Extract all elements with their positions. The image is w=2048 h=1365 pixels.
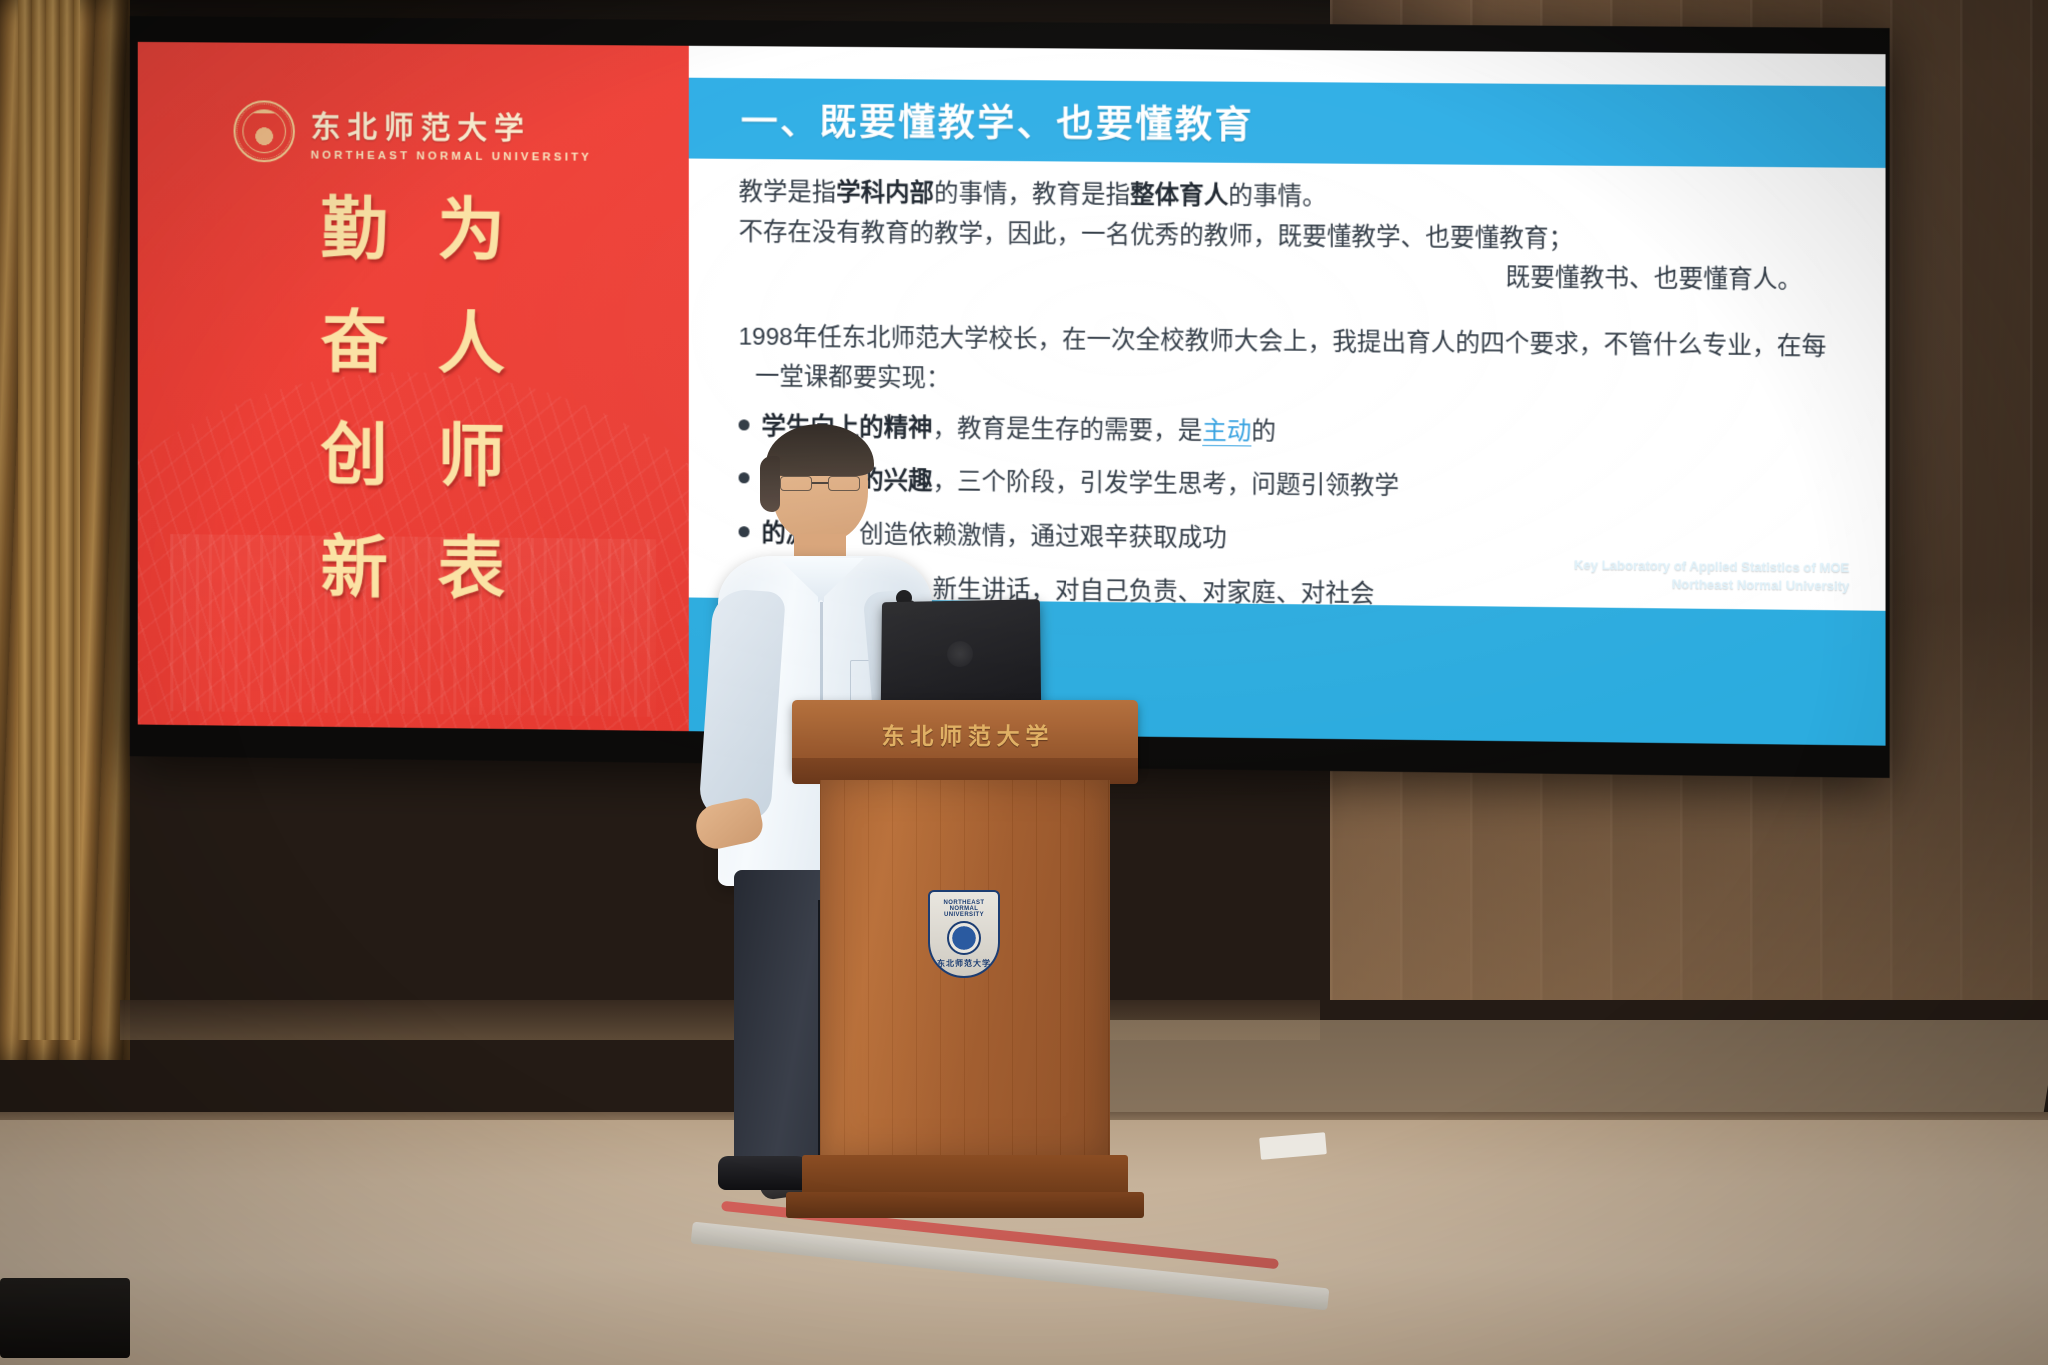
stage-curtain-folds: [18, 0, 80, 1040]
hair: [766, 424, 874, 476]
slogan-char: 表: [437, 535, 504, 603]
slide-title-bar: 一、既要懂教学、也要懂教育: [689, 77, 1886, 167]
shoe-left: [718, 1156, 814, 1190]
slogan-char: 人: [437, 309, 504, 377]
slogan-char: 奋: [321, 308, 388, 376]
glasses-lens-left: [780, 476, 812, 491]
wooden-podium: 东 北 师 范 大 学 NORTHEAST NORMAL UNIVERSITY …: [820, 700, 1110, 1245]
podium-university-emblem: NORTHEAST NORMAL UNIVERSITY 东北师范大学: [912, 880, 1016, 998]
slogan-char: 师: [437, 422, 504, 490]
bullet-rest: ，三个阶段，引发学生思考，问题引领教学: [932, 468, 1399, 500]
university-logo-row: 东北师范大学 NORTHEAST NORMAL UNIVERSITY: [138, 100, 689, 166]
podium-base: [802, 1155, 1128, 1195]
bullet-rest: ，教育是生存的需要，是: [932, 415, 1202, 445]
slogan-char: 为: [437, 197, 504, 265]
slogan-char: 勤: [321, 196, 388, 264]
slogan-block: 勤 奋 创 新 为 人 师 表: [138, 172, 689, 629]
glasses-icon: [778, 476, 862, 492]
university-seal-icon: [234, 101, 295, 163]
emblem-center-icon: [947, 921, 981, 955]
glasses-bridge: [812, 482, 828, 484]
slogan-char: 新: [321, 534, 388, 602]
university-name-block: 东北师范大学 NORTHEAST NORMAL UNIVERSITY: [311, 102, 592, 164]
hair-side: [760, 456, 780, 512]
line1-part: 的事情。: [1228, 183, 1326, 211]
podium-engraved-name: 东 北 师 范 大 学: [810, 714, 1120, 754]
university-name-en: NORTHEAST NORMAL UNIVERSITY: [311, 150, 592, 164]
stage-speaker-box: [0, 1278, 130, 1358]
slogan-column-left: 勤 奋 创 新: [321, 173, 388, 625]
footer-line-2: Northeast Normal University: [1574, 575, 1849, 597]
slide-title: 一、既要懂教学、也要懂教育: [741, 91, 1254, 149]
university-name-cn: 东北师范大学: [311, 102, 592, 148]
slide-branding-panel: 东北师范大学 NORTHEAST NORMAL UNIVERSITY 勤 奋 创…: [138, 42, 689, 731]
photograph-scene: 东北师范大学 NORTHEAST NORMAL UNIVERSITY 勤 奋 创…: [0, 0, 2048, 1365]
line1-part: 的事情，教育是指: [934, 181, 1130, 210]
bullet-link[interactable]: 主动: [1202, 417, 1251, 446]
podium-base-plinth: [786, 1192, 1144, 1218]
emblem-text-top: NORTHEAST NORMAL UNIVERSITY: [930, 900, 998, 918]
slogan-char: 创: [321, 421, 388, 489]
laptop-screen: [881, 599, 1041, 712]
footer-line-1: Key Laboratory of Applied Statistics of …: [1574, 556, 1849, 578]
slogan-column-right: 为 人 师 表: [437, 174, 504, 626]
line1-emphasis: 整体育人: [1130, 182, 1228, 210]
line1-part: 教学是指: [738, 179, 836, 207]
emblem-text-cn: 东北师范大学: [937, 958, 991, 969]
slide-footer: Key Laboratory of Applied Statistics of …: [1574, 556, 1849, 597]
seal-ring: [237, 104, 292, 160]
glasses-lens-right: [828, 476, 860, 491]
emblem-shield-icon: NORTHEAST NORMAL UNIVERSITY 东北师范大学: [928, 890, 1000, 978]
line1-emphasis: 学科内部: [836, 180, 934, 208]
bullet-dot-icon: [738, 419, 749, 430]
bullet-tail: 的: [1251, 418, 1276, 445]
